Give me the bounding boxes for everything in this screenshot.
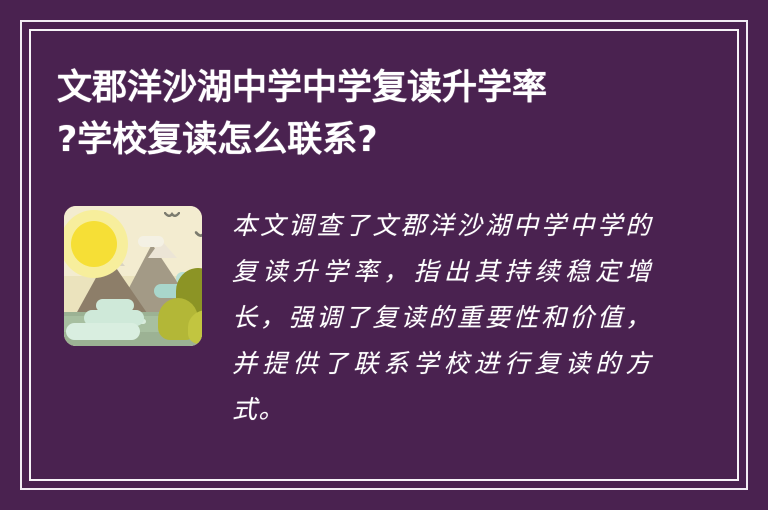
landscape-illustration: [56, 203, 206, 353]
cloud-icon: [66, 323, 140, 340]
bird-icon: [195, 231, 202, 243]
sun-icon: [71, 221, 117, 267]
content-row: 本文调查了文郡洋沙湖中学中学的复读升学率，指出其持续稳定增长，强调了复读的重要性…: [56, 203, 696, 433]
bird-icon: [164, 212, 180, 222]
page-title: 文郡洋沙湖中学中学复读升学率 ?学校复读怎么联系?: [57, 62, 657, 166]
title-line-1: 文郡洋沙湖中学中学复读升学率: [57, 62, 657, 114]
cloud-icon: [138, 236, 164, 247]
title-line-2: ?学校复读怎么联系?: [57, 114, 657, 166]
summary-paragraph: 本文调查了文郡洋沙湖中学中学的复读升学率，指出其持续稳定增长，强调了复读的重要性…: [232, 203, 652, 433]
poster-canvas: 文郡洋沙湖中学中学复读升学率 ?学校复读怎么联系?: [0, 0, 768, 510]
illustration-card: [64, 206, 202, 346]
